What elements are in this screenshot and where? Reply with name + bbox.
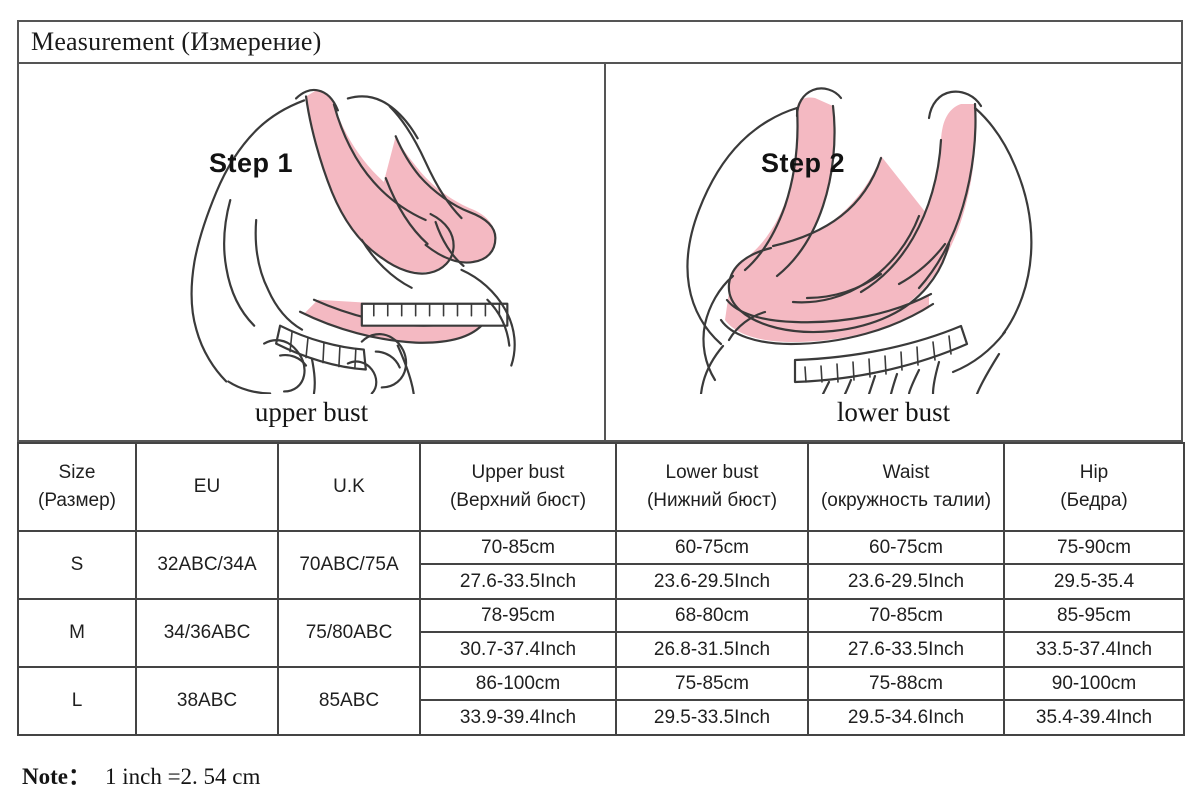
cell-uk: 75/80ABC [278, 599, 420, 667]
illustration-panel-step-1: Step 1 [19, 64, 606, 440]
cell-upper-bust-cm: 78-95cm [420, 599, 616, 632]
cell-lower-bust-cm: 68-80cm [616, 599, 808, 632]
table-row: L 38ABC 85ABC 86-100cm 75-85cm 75-88cm 9… [18, 667, 1184, 700]
cell-eu: 32ABC/34A [136, 531, 278, 599]
cell-hip-cm: 75-90cm [1004, 531, 1184, 564]
cell-eu: 38ABC [136, 667, 278, 735]
header-waist: Waist (окружность талии) [808, 443, 1004, 531]
cell-hip-inch: 29.5-35.4 [1004, 564, 1184, 599]
cell-waist-cm: 60-75cm [808, 531, 1004, 564]
step-1-caption: upper bust [19, 397, 604, 428]
page-title: Measurement (Измерение) [31, 27, 322, 57]
step-2-label: Step 2 [761, 148, 845, 179]
cell-waist-cm: 70-85cm [808, 599, 1004, 632]
cell-waist-inch: 27.6-33.5Inch [808, 632, 1004, 667]
header-upper-bust: Upper bust (Верхний бюст) [420, 443, 616, 531]
note-value: 1 inch =2. 54 cm [105, 764, 260, 789]
table-row: M 34/36ABC 75/80ABC 78-95cm 68-80cm 70-8… [18, 599, 1184, 632]
cell-upper-bust-inch: 30.7-37.4Inch [420, 632, 616, 667]
note-label: Note： [22, 764, 91, 789]
size-table: Size (Размер) EU U.K Upper bust (Верхний… [17, 442, 1185, 736]
header-eu: EU [136, 443, 278, 531]
header-size: Size (Размер) [18, 443, 136, 531]
cell-waist-inch: 29.5-34.6Inch [808, 700, 1004, 735]
cell-upper-bust-cm: 86-100cm [420, 667, 616, 700]
step-1-label: Step 1 [209, 148, 293, 179]
table-header-row: Size (Размер) EU U.K Upper bust (Верхний… [18, 443, 1184, 531]
cell-eu: 34/36ABC [136, 599, 278, 667]
cell-upper-bust-cm: 70-85cm [420, 531, 616, 564]
cell-lower-bust-inch: 23.6-29.5Inch [616, 564, 808, 599]
torso-bra-tape-lower-bust-icon [606, 64, 1181, 394]
cell-size: M [18, 599, 136, 667]
cell-uk: 70ABC/75A [278, 531, 420, 599]
cell-lower-bust-cm: 60-75cm [616, 531, 808, 564]
cell-lower-bust-inch: 29.5-33.5Inch [616, 700, 808, 735]
cell-uk: 85ABC [278, 667, 420, 735]
cell-hip-cm: 90-100cm [1004, 667, 1184, 700]
cell-size: S [18, 531, 136, 599]
size-chart-sheet: Measurement (Измерение) Step 1 [17, 20, 1183, 736]
illustration-panel-step-2: Step 2 [606, 64, 1181, 440]
note-line: Note：1 inch =2. 54 cm [22, 757, 260, 791]
cell-waist-cm: 75-88cm [808, 667, 1004, 700]
header-hip: Hip (Бедра) [1004, 443, 1184, 531]
illustration-panels: Step 1 [17, 64, 1183, 442]
header-lower-bust: Lower bust (Нижний бюст) [616, 443, 808, 531]
table-row: S 32ABC/34A 70ABC/75A 70-85cm 60-75cm 60… [18, 531, 1184, 564]
cell-lower-bust-inch: 26.8-31.5Inch [616, 632, 808, 667]
cell-hip-cm: 85-95cm [1004, 599, 1184, 632]
cell-upper-bust-inch: 27.6-33.5Inch [420, 564, 616, 599]
cell-size: L [18, 667, 136, 735]
torso-bra-tape-upper-bust-icon [19, 64, 604, 394]
cell-hip-inch: 33.5-37.4Inch [1004, 632, 1184, 667]
cell-upper-bust-inch: 33.9-39.4Inch [420, 700, 616, 735]
cell-hip-inch: 35.4-39.4Inch [1004, 700, 1184, 735]
header-uk: U.K [278, 443, 420, 531]
chart-title-bar: Measurement (Измерение) [17, 20, 1183, 64]
cell-lower-bust-cm: 75-85cm [616, 667, 808, 700]
step-2-caption: lower bust [606, 397, 1181, 428]
cell-waist-inch: 23.6-29.5Inch [808, 564, 1004, 599]
